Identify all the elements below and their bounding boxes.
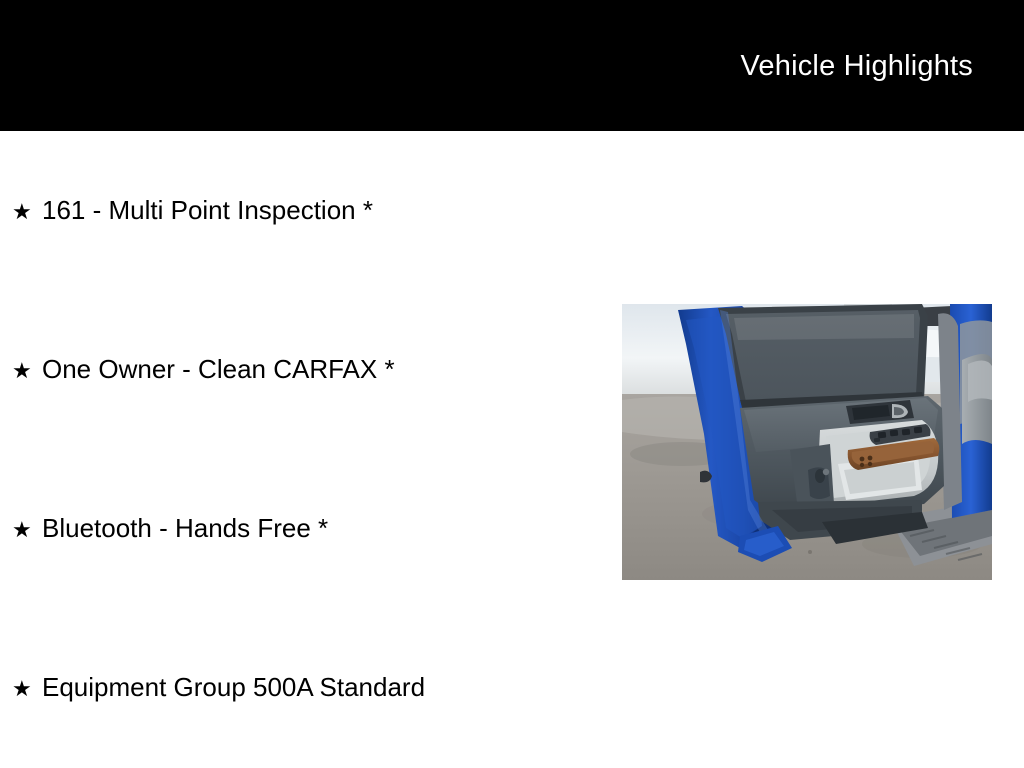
header-bar: Vehicle Highlights xyxy=(0,0,1024,131)
highlight-label: One Owner - Clean CARFAX * xyxy=(42,352,395,386)
vehicle-photo-illustration xyxy=(622,304,992,580)
vehicle-photo xyxy=(622,304,992,580)
highlight-label: Bluetooth - Hands Free * xyxy=(42,511,328,545)
star-icon: ★ xyxy=(12,513,42,547)
list-item: ★ One Owner - Clean CARFAX * xyxy=(12,352,395,388)
list-item: ★ Bluetooth - Hands Free * xyxy=(12,511,328,547)
list-item: ★ 161 - Multi Point Inspection * xyxy=(12,193,373,229)
star-icon: ★ xyxy=(12,354,42,388)
list-item: ★ Equipment Group 500A Standard xyxy=(12,670,425,706)
star-icon: ★ xyxy=(12,672,42,706)
star-icon: ★ xyxy=(12,195,42,229)
highlight-label: Equipment Group 500A Standard xyxy=(42,670,425,704)
highlight-label: 161 - Multi Point Inspection * xyxy=(42,193,373,227)
page-title: Vehicle Highlights xyxy=(740,48,973,84)
